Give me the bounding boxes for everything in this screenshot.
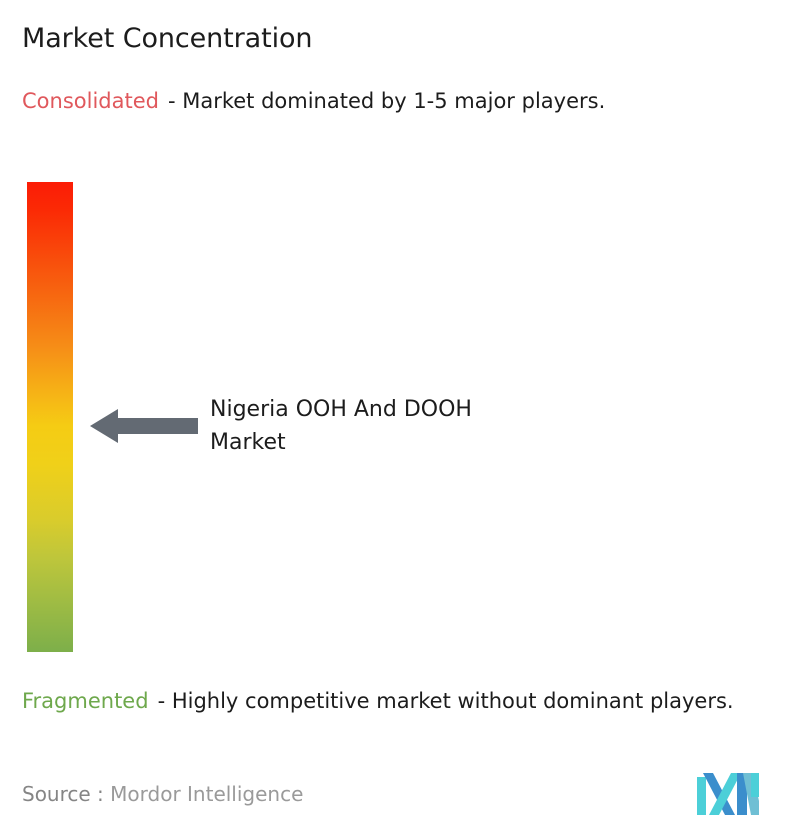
marker-label-line2: Market [210, 426, 610, 459]
label-fragmented: Fragmented [22, 689, 149, 713]
mordor-intelligence-logo-icon [697, 767, 759, 815]
concentration-gradient-bar [27, 182, 73, 652]
caption-consolidated-text: - Market dominated by 1-5 major players. [168, 89, 605, 113]
source-label: Source : [22, 782, 104, 806]
source-value: Mordor Intelligence [110, 782, 303, 806]
marker-arrow-icon [90, 405, 198, 447]
marker-label-line1: Nigeria OOH And DOOH [210, 393, 610, 426]
caption-fragmented-text: - Highly competitive market without domi… [158, 689, 734, 713]
caption-consolidated: Consolidated- Market dominated by 1-5 ma… [22, 86, 762, 117]
market-concentration-chart: Market Concentration Consolidated- Marke… [0, 0, 796, 834]
marker-label: Nigeria OOH And DOOH Market [210, 393, 610, 459]
page-title: Market Concentration [22, 22, 312, 56]
caption-fragmented: Fragmented- Highly competitive market wi… [22, 686, 792, 717]
source-attribution: Source : Mordor Intelligence [22, 780, 303, 808]
label-consolidated: Consolidated [22, 89, 159, 113]
